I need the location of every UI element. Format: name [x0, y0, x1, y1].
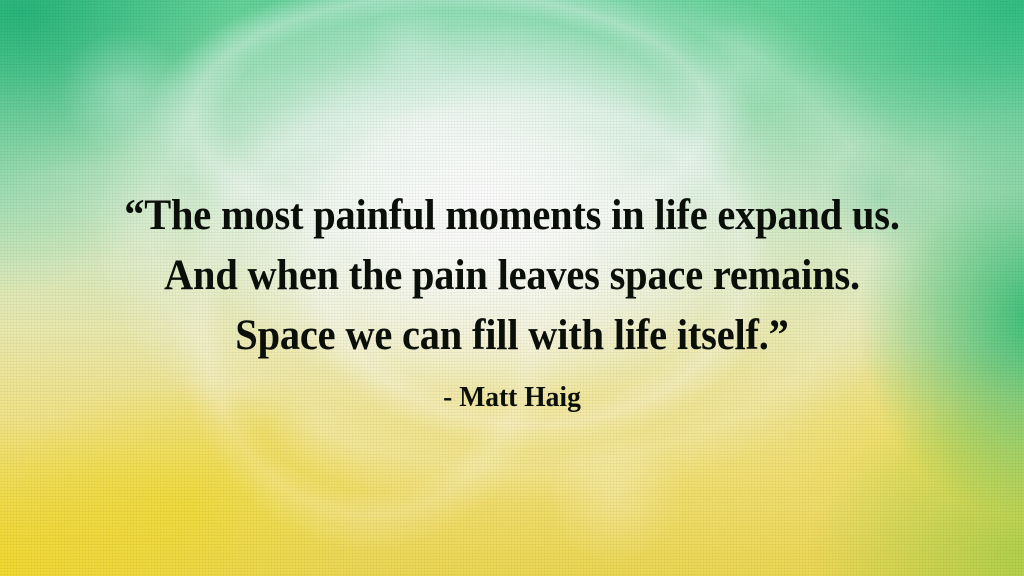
- quote-line-3: Space we can fill with life itself.”: [31, 306, 994, 366]
- quote-text-block: “The most painful moments in life expand…: [0, 186, 1024, 414]
- quote-poster: “The most painful moments in life expand…: [0, 0, 1024, 576]
- quote-line-2: And when the pain leaves space remains.: [31, 246, 994, 306]
- quote-line-1: “The most painful moments in life expand…: [31, 186, 994, 246]
- quote-attribution: - Matt Haig: [26, 380, 999, 414]
